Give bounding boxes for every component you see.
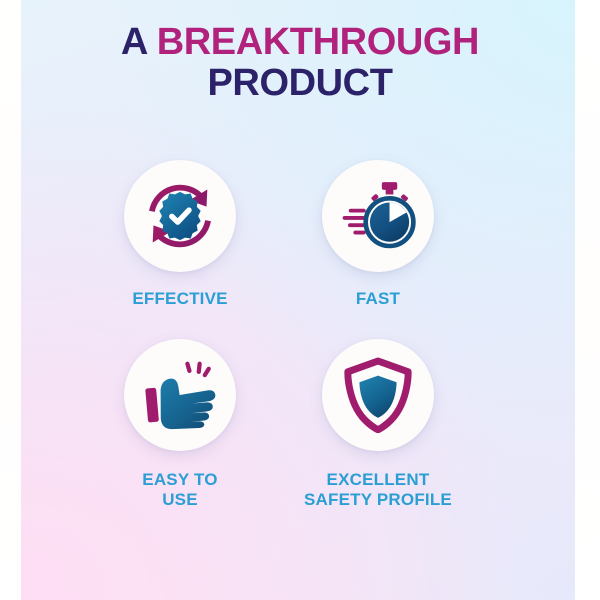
infographic-canvas: A BREAKTHROUGH PRODUCT [0, 0, 600, 600]
page-title-line-2: PRODUCT [0, 63, 600, 104]
feature-row-2: EASY TO USE [86, 339, 506, 510]
feature-item-fast[interactable]: FAST [284, 160, 472, 309]
page-title-word-breakthrough: BREAKTHROUGH [157, 21, 479, 63]
feature-item-easy-to-use[interactable]: EASY TO USE [86, 339, 274, 510]
icon-circle-safety-profile[interactable] [322, 339, 434, 451]
stopwatch-speed-icon [338, 177, 418, 255]
page-title-word-a: A [121, 21, 157, 63]
icon-circle-effective[interactable] [124, 160, 236, 272]
feature-label-effective: EFFECTIVE [132, 289, 227, 309]
feature-grid: EFFECTIVE [86, 160, 506, 510]
pointing-hand-icon [141, 357, 219, 433]
feature-item-effective[interactable]: EFFECTIVE [86, 160, 274, 309]
page-title: A BREAKTHROUGH PRODUCT [0, 22, 600, 104]
feature-label-fast: FAST [356, 289, 400, 309]
icon-circle-fast[interactable] [322, 160, 434, 272]
feature-label-easy-to-use: EASY TO USE [142, 470, 217, 510]
icon-circle-easy-to-use[interactable] [124, 339, 236, 451]
shield-icon [344, 357, 412, 433]
feature-label-safety-profile: EXCELLENT SAFETY PROFILE [304, 470, 452, 510]
feature-row-1: EFFECTIVE [86, 160, 506, 309]
refresh-gear-check-icon [141, 177, 219, 255]
page-title-line-1: A BREAKTHROUGH [0, 22, 600, 63]
feature-item-safety-profile[interactable]: EXCELLENT SAFETY PROFILE [284, 339, 472, 510]
